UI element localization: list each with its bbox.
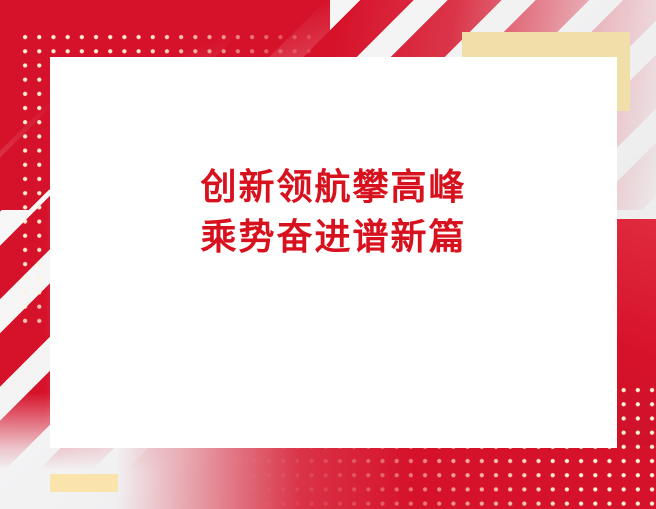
headline-line-1: 创新领航攀高峰 bbox=[50, 163, 617, 213]
headline-line-2: 乘势奋进谱新篇 bbox=[50, 213, 617, 263]
content-card: 创新领航攀高峰 乘势奋进谱新篇 bbox=[50, 57, 617, 448]
headline-block: 创新领航攀高峰 乘势奋进谱新篇 bbox=[50, 163, 617, 263]
gold-chip-bottom-left-icon bbox=[50, 474, 118, 492]
poster-canvas: 创新领航攀高峰 乘势奋进谱新篇 bbox=[0, 0, 656, 509]
